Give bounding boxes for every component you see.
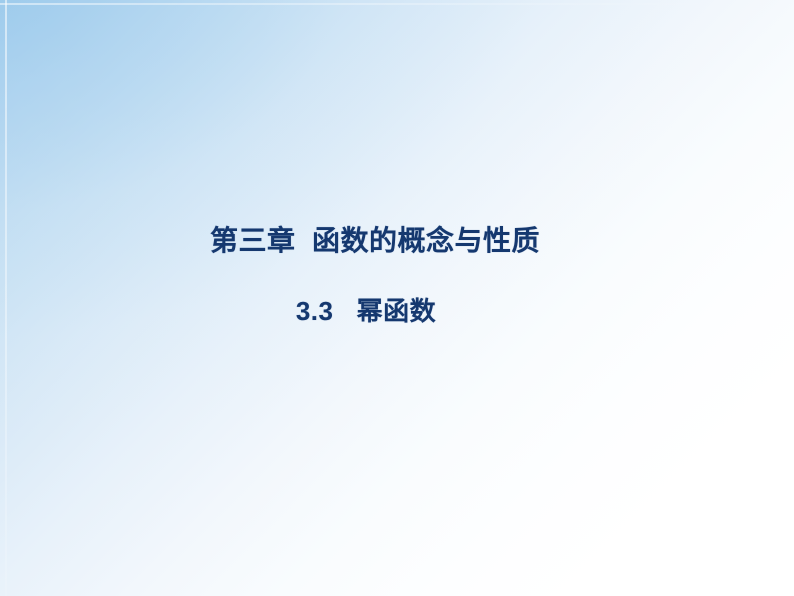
- presentation-slide: 第三章 函数的概念与性质 3.3 幂函数: [0, 0, 794, 596]
- section-title: 3.3 幂函数: [0, 292, 732, 330]
- chapter-title: 第三章 函数的概念与性质: [0, 221, 750, 261]
- slide-text-layer: 第三章 函数的概念与性质 3.3 幂函数: [0, 0, 794, 596]
